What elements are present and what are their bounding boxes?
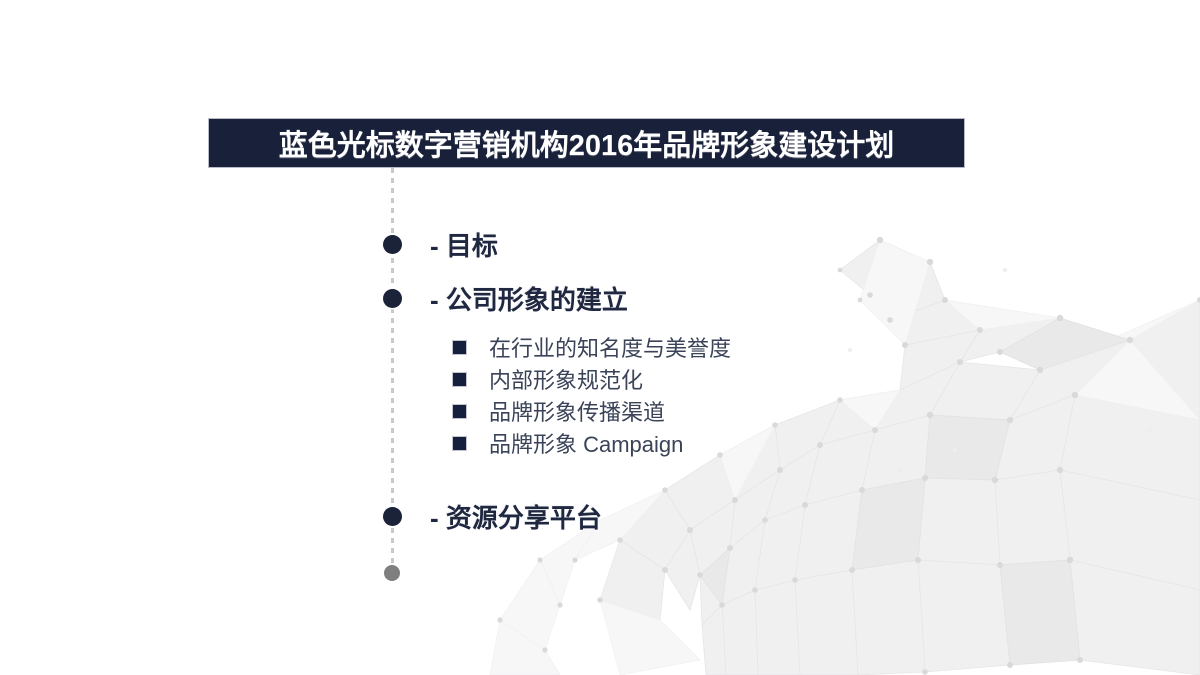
square-bullet-icon — [452, 436, 467, 451]
square-bullet-icon — [452, 340, 467, 355]
circle-bullet-icon — [383, 507, 402, 526]
outline-item-label: - 公司形象的建立 — [430, 280, 628, 317]
outline-item-label: 内部形象规范化 — [489, 363, 643, 395]
slide-title-bar: 蓝色光标数字营销机构2016年品牌形象建设计划 — [208, 118, 965, 168]
outline-item-label: 品牌形象传播渠道 — [489, 395, 665, 427]
outline-item-level1[interactable]: - 公司形象的建立 — [383, 280, 628, 317]
outline-item-label: 品牌形象 Campaign — [489, 427, 683, 459]
outline-item-level2[interactable]: 品牌形象传播渠道 — [452, 395, 665, 427]
circle-bullet-icon — [383, 235, 402, 254]
slide-canvas: 蓝色光标数字营销机构2016年品牌形象建设计划 - 目标 - 公司形象的建立 在… — [0, 0, 1200, 675]
outline-item-level1[interactable]: - 资源分享平台 — [383, 498, 602, 535]
outline-item-level1[interactable]: - 目标 — [383, 226, 498, 263]
outline-item-level2[interactable]: 内部形象规范化 — [452, 363, 643, 395]
outline-item-level2[interactable]: 品牌形象 Campaign — [452, 427, 683, 459]
circle-bullet-icon — [383, 289, 402, 308]
page-title: 蓝色光标数字营销机构2016年品牌形象建设计划 — [279, 122, 895, 164]
timeline-end-dot — [384, 565, 400, 581]
outline-item-label: - 目标 — [430, 226, 498, 263]
square-bullet-icon — [452, 404, 467, 419]
outline-item-level2[interactable]: 在行业的知名度与美誉度 — [452, 331, 731, 363]
outline-item-label: 在行业的知名度与美誉度 — [489, 331, 731, 363]
outline-item-label: - 资源分享平台 — [430, 498, 602, 535]
square-bullet-icon — [452, 372, 467, 387]
